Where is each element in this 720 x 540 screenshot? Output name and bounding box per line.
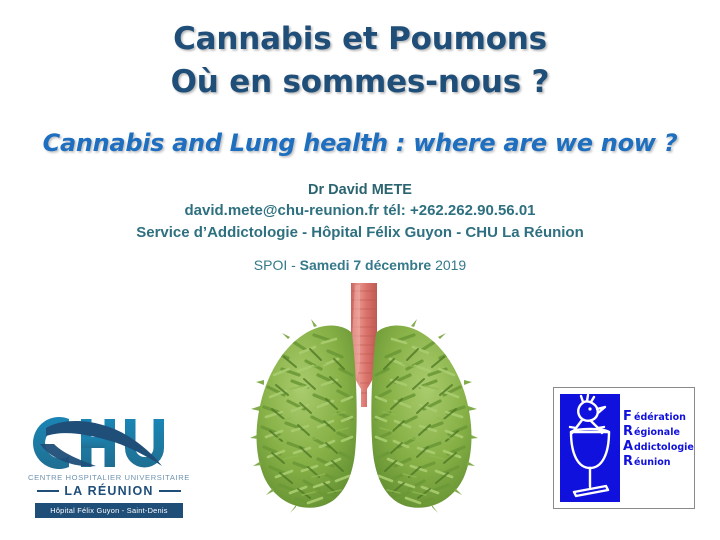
chu-letters-svg	[24, 414, 194, 472]
subtitle-line: Cannabis and Lung health : where are we …	[0, 128, 720, 158]
slide-subtitle: Cannabis and Lung health : where are we …	[0, 128, 720, 158]
slide-title: Cannabis et Poumons Où en sommes-nous ?	[0, 18, 720, 104]
chu-logomark	[24, 414, 194, 472]
chu-hospital-name: Hôpital Félix Guyon - Saint-Denis	[50, 506, 168, 515]
author-block: Dr David METE david.mete@chu-reunion.fr …	[0, 180, 720, 244]
chu-rule-left	[37, 490, 59, 492]
title-line-1: Cannabis et Poumons	[0, 18, 720, 61]
frar-initial-r2: R	[623, 455, 634, 469]
chu-la-reunion-logo: CENTRE HOSPITALIER UNIVERSITAIRE LA RÉUN…	[24, 414, 194, 514]
frar-row-regionale: R égionale	[623, 425, 694, 440]
frar-initial-r1: R	[623, 425, 634, 439]
frar-emblem-panel	[560, 394, 620, 502]
frar-wordmark: F édération R égionale A ddictologie R é…	[620, 388, 694, 508]
frar-word-addictologie: ddictologie	[634, 441, 694, 455]
event-prefix: SPOI -	[254, 257, 300, 273]
frar-initial-f: F	[623, 410, 634, 424]
frar-row-reunion: R éunion	[623, 455, 694, 470]
frar-initial-a: A	[623, 440, 634, 454]
chu-tagline-line1: CENTRE HOSPITALIER UNIVERSITAIRE	[24, 473, 194, 482]
cannabis-leaf-lungs-image	[248, 281, 480, 523]
bird-on-glass-icon	[560, 394, 620, 504]
author-affiliation: Service d’Addictologie - Hôpital Félix G…	[0, 222, 720, 244]
frar-word-reunion: éunion	[634, 456, 671, 470]
event-emphasis: Samedi 7 décembre	[300, 257, 432, 273]
frar-word-regionale: égionale	[634, 426, 680, 440]
author-name: Dr David METE	[0, 180, 720, 200]
chu-tagline-line2: LA RÉUNION	[64, 484, 153, 498]
chu-region-row: LA RÉUNION	[24, 484, 194, 498]
chu-hospital-bar: Hôpital Félix Guyon - Saint-Denis	[35, 503, 183, 518]
author-contact: david.mete@chu-reunion.fr tél: +262.262.…	[0, 200, 720, 222]
event-suffix: 2019	[431, 257, 466, 273]
frar-word-federation: édération	[634, 411, 686, 425]
lungs-svg	[248, 281, 480, 523]
chu-rule-right	[159, 490, 181, 492]
event-date: SPOI - Samedi 7 décembre 2019	[0, 257, 720, 273]
frar-row-federation: F édération	[623, 410, 694, 425]
presentation-slide: Cannabis et Poumons Où en sommes-nous ? …	[0, 0, 720, 540]
left-lung-lobe	[257, 326, 357, 508]
frar-row-addictologie: A ddictologie	[623, 440, 694, 455]
right-lung-lobe	[371, 326, 471, 508]
title-line-2: Où en sommes-nous ?	[0, 61, 720, 104]
frar-logo: F édération R égionale A ddictologie R é…	[553, 387, 695, 509]
